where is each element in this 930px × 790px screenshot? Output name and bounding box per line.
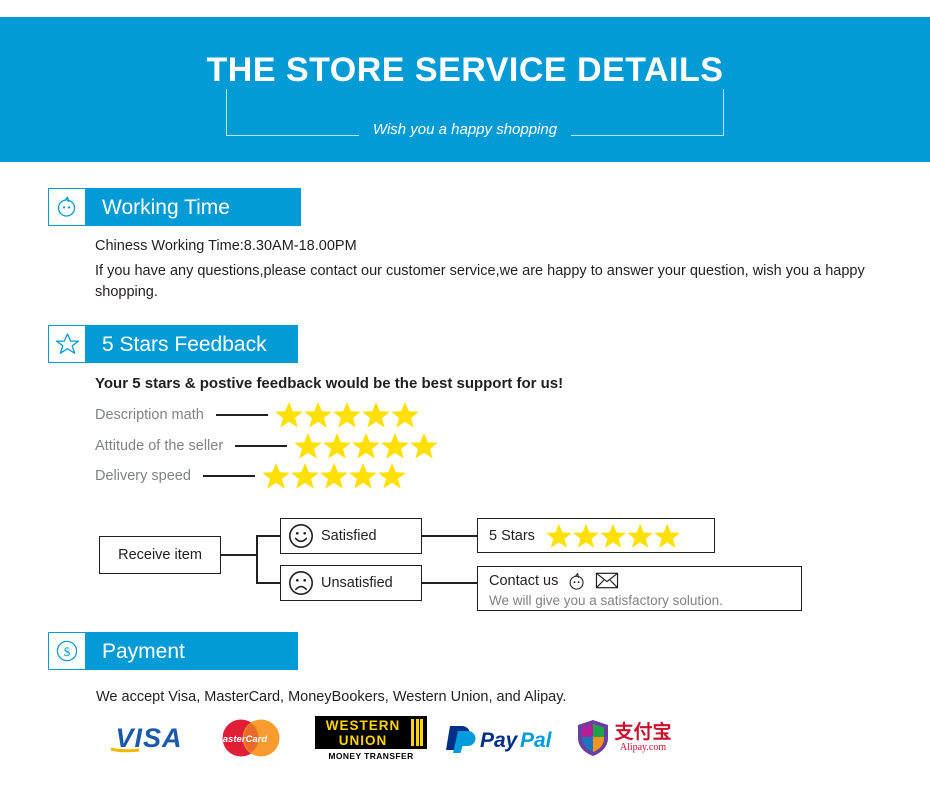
working-time-hours: Chiness Working Time:8.30AM-18.00PM [95,236,357,256]
alipay-domain-text: Alipay.com [620,742,666,754]
contact-us-subtext: We will give you a satisfactory solution… [489,593,723,608]
rating-connector-line [216,414,268,416]
rating-stars-delivery [261,461,409,491]
section-title-payment: Payment [102,641,185,662]
flow-stars-group [544,522,684,550]
western-union-wordmark: WESTERN UNION [315,716,427,749]
flow-box-satisfied[interactable]: Satisfied [280,518,422,554]
page-subtitle-text: Wish you a happy shopping [359,121,571,138]
flow-line-branch-bottom [256,582,281,584]
section-title-working-time: Working Time [102,197,230,218]
rating-row-attitude: Attitude of the seller [95,431,441,461]
flow-label-receive-item: Receive item [118,547,202,563]
flow-label-satisfied: Satisfied [321,528,377,544]
star-outline-icon-svg [54,331,81,357]
flow-line-unsatisfied-out [422,582,478,584]
alipay-shield-icon [575,718,611,758]
western-union-logo: WESTERN UNION MONEY TRANSFER [301,712,441,764]
western-union-tagline: MONEY TRANSFER [328,751,413,761]
flow-line-receive-out [221,554,257,556]
flow-label-five-stars: 5 Stars [489,528,535,544]
svg-text:VISA: VISA [115,723,182,753]
flow-box-unsatisfied[interactable]: Unsatisfied [280,565,422,601]
chat-face-icon [566,570,588,592]
western-union-bars-icon [411,719,423,746]
rating-label-attitude: Attitude of the seller [95,437,223,455]
rating-row-delivery: Delivery speed [95,461,409,491]
page-title: THE STORE SERVICE DETAILS [0,49,930,91]
envelope-icon [595,571,619,590]
working-time-description: If you have any questions,please contact… [95,261,895,303]
rating-connector-line [235,445,287,447]
paypal-logo-svg: Pay Pal [444,722,564,754]
svg-text:MasterCard: MasterCard [215,734,267,745]
flow-box-five-stars[interactable]: 5 Stars [477,518,715,553]
star-outline-icon [48,325,86,363]
section-header-bar-payment: Payment [86,632,298,670]
mastercard-logo-svg: MasterCard [212,716,290,760]
stars-5-delivery [261,461,409,491]
flow-box-receive-item[interactable]: Receive item [99,536,221,574]
mastercard-logo: MasterCard [201,715,301,761]
payment-logos: VISA MasterCard WESTERN UNION MONEY TRAN… [96,712,681,764]
payment-note: We accept Visa, MasterCard, MoneyBookers… [96,687,566,707]
chat-face-icon [48,188,86,226]
smiley-happy-icon [288,523,314,549]
section-header-bar-working-time: Working Time [86,188,301,226]
visa-logo-svg: VISA [99,721,199,755]
svg-text:Pay: Pay [480,729,519,752]
rating-stars-attitude [293,431,441,461]
rating-row-description: Description math [95,400,422,430]
stars-5-description [274,400,422,430]
stars-5-attitude [293,431,441,461]
feedback-intro: Your 5 stars & postive feedback would be… [95,374,563,394]
section-header-bar-feedback: 5 Stars Feedback [86,325,298,363]
page-banner: THE STORE SERVICE DETAILS Wish you a hap… [0,17,930,162]
chat-face-icon-svg [54,194,80,220]
alipay-chinese-text: 支付宝 [614,722,671,742]
flow-box-contact-us[interactable]: Contact us We will give you a satisfacto… [477,566,802,611]
section-header-feedback: 5 Stars Feedback [48,325,298,363]
flow-line-satisfied-out [422,535,478,537]
dollar-circle-icon-svg: $ [54,638,80,664]
svg-text:Pal: Pal [520,729,553,752]
page-title-text: THE STORE SERVICE DETAILS [189,51,742,89]
page-subtitle: Wish you a happy shopping [0,120,930,140]
section-header-payment: $ Payment [48,632,298,670]
stars-5-result [544,522,684,550]
section-header-working-time: Working Time [48,188,301,226]
rating-stars-description [274,400,422,430]
smiley-sad-icon [288,570,314,596]
rating-label-delivery: Delivery speed [95,467,191,485]
contact-us-title-row: Contact us [489,570,619,592]
visa-logo: VISA [96,715,201,761]
flow-label-unsatisfied: Unsatisfied [321,575,393,591]
dollar-circle-icon: $ [48,632,86,670]
rating-connector-line [203,475,255,477]
alipay-wordmark: 支付宝 Alipay.com [614,722,671,754]
svg-text:$: $ [64,644,71,659]
section-title-feedback: 5 Stars Feedback [102,334,267,355]
flow-line-branch-top [256,535,281,537]
paypal-logo: Pay Pal [441,715,566,761]
flow-label-contact-us: Contact us [489,573,558,589]
alipay-logo: 支付宝 Alipay.com [566,715,681,761]
rating-label-description: Description math [95,406,204,424]
flow-line-branch-vertical [256,535,258,583]
